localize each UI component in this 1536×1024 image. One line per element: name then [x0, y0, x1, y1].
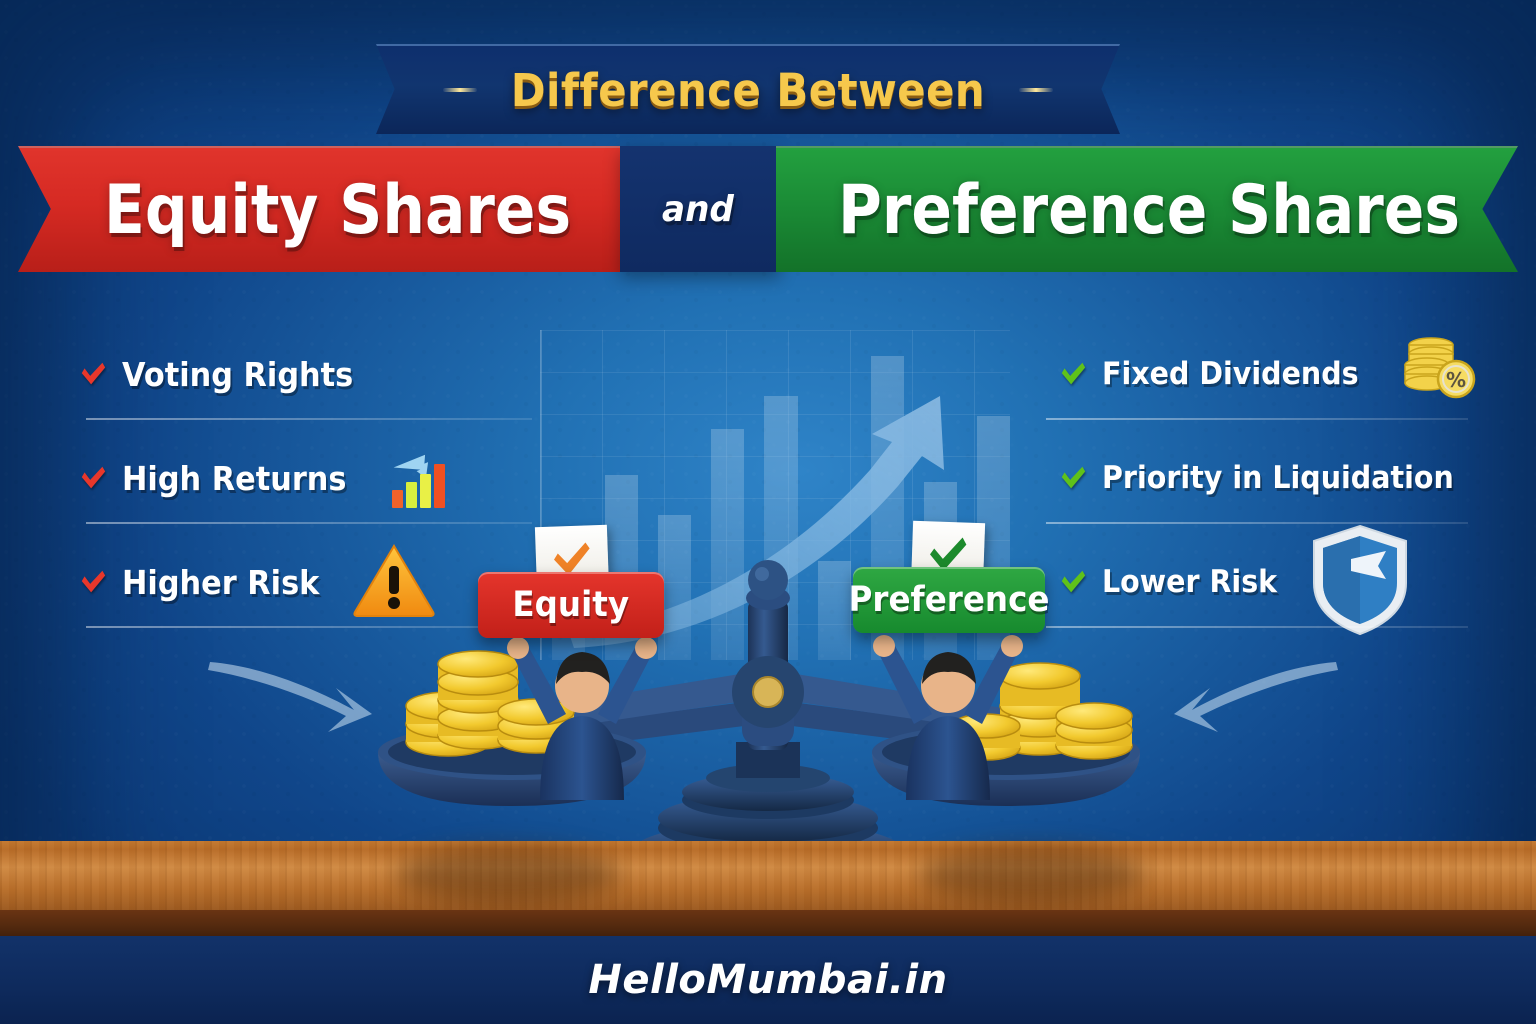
footer-bar: HelloMumbai.in	[0, 936, 1536, 1024]
conjunction-ribbon: and	[620, 146, 780, 272]
check-icon	[78, 463, 108, 493]
preference-feature-list: Fixed Dividends	[1058, 322, 1478, 634]
list-item: Fixed Dividends	[1058, 322, 1478, 426]
left-shadow	[396, 847, 620, 903]
check-icon	[78, 359, 108, 389]
preference-ribbon-label: Preference Shares	[838, 171, 1460, 250]
list-item: Higher Risk	[78, 530, 508, 634]
list-item-label: Fixed Dividends	[1102, 356, 1359, 392]
table-surface	[0, 841, 1536, 910]
title-dash-right-icon	[1019, 88, 1053, 92]
divider	[1046, 418, 1468, 420]
table-edge	[0, 910, 1536, 936]
title-dash-left-icon	[443, 88, 477, 92]
list-item: High Returns	[78, 426, 508, 530]
conjunction-label: and	[662, 189, 734, 230]
equity-feature-list: Voting Rights High Returns	[78, 322, 508, 634]
divider	[86, 522, 532, 524]
divider	[86, 626, 532, 628]
equity-placard-label: Equity	[513, 585, 630, 625]
preference-placard: Preference	[853, 567, 1045, 633]
list-item: Priority in Liquidation	[1058, 426, 1478, 530]
right-shadow	[920, 847, 1144, 903]
list-item: Voting Rights	[78, 322, 508, 426]
check-icon	[1058, 567, 1088, 597]
bar-chart-growth-icon	[380, 438, 456, 519]
page-title: Difference Between	[511, 64, 985, 117]
preference-placard-label: Preference	[849, 580, 1050, 620]
list-item-label: Voting Rights	[122, 355, 353, 394]
list-item-label: Lower Risk	[1102, 564, 1277, 600]
gold-coins-percent-icon: %	[1395, 329, 1481, 420]
title-ribbon: Difference Between	[376, 44, 1120, 134]
check-icon	[1058, 359, 1088, 389]
equity-placard: Equity	[478, 572, 664, 638]
check-icon	[78, 567, 108, 597]
list-item: Lower Risk	[1058, 530, 1478, 634]
wood-grain-texture	[0, 841, 1536, 910]
equity-ribbon: Equity Shares	[18, 146, 626, 272]
check-icon	[1058, 463, 1088, 493]
arrow-left-icon	[1142, 636, 1342, 744]
comparison-ribbons: Equity Shares and Preference Shares	[0, 146, 1536, 272]
warning-triangle-icon	[351, 540, 437, 625]
list-item-label: Priority in Liquidation	[1102, 460, 1454, 496]
infographic-canvas: Difference Between Equity Shares and Pre…	[0, 0, 1536, 1024]
equity-ribbon-label: Equity Shares	[104, 171, 571, 250]
site-name: HelloMumbai.in	[588, 957, 947, 1003]
svg-text:%: %	[1446, 368, 1466, 392]
arrow-right-icon	[204, 636, 394, 744]
preference-ribbon: Preference Shares	[776, 146, 1518, 272]
list-item-label: Higher Risk	[122, 563, 319, 602]
divider	[86, 418, 532, 420]
divider	[1046, 626, 1468, 628]
list-item-label: High Returns	[122, 459, 346, 498]
